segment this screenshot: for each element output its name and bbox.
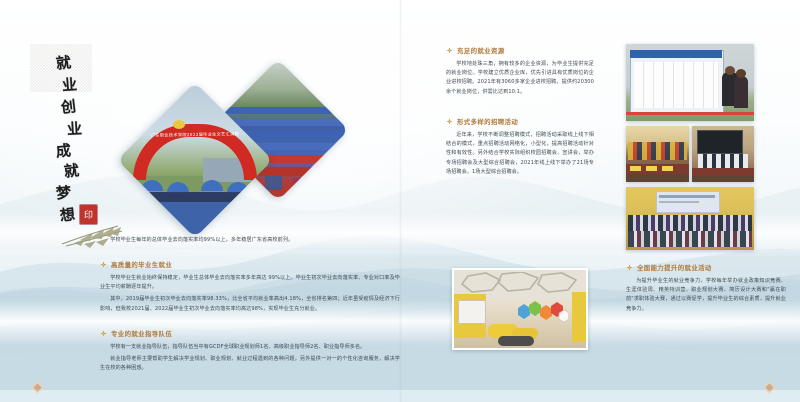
section-heading: 全面能力提升的就业活动: [626, 263, 786, 272]
section-heading: 专业的就业指导队伍: [100, 329, 400, 338]
section-intro: 学校毕业生每年的总体毕业去向落实率均99%以上，多年稳居广东省高校前列。: [100, 236, 400, 245]
photo-lecture-hall: [626, 126, 689, 182]
flower-bullet-icon: [446, 47, 453, 54]
photo-group-portrait: [626, 187, 754, 250]
paragraph: 学校有一支就业指导队伍，指导队伍当中有GCDF全球职业规划师1名、高级职业指导师…: [100, 343, 400, 352]
paragraph: 学校地处珠三角，拥有较多的企业资源，为毕业生提供充足的就业岗位。学校建立优质企业…: [446, 60, 594, 97]
flower-bullet-icon: [446, 118, 453, 125]
section-quality-employment: 高质量的毕业生就业 学校毕业生就业始终保持稳定，毕业生总体毕业去向落实率多年高达…: [100, 260, 400, 314]
section-employment-resources: 充足的就业资源 学校地处珠三角，拥有较多的企业资源，为毕业生提供充足的就业岗位。…: [446, 46, 594, 97]
flower-bullet-icon: [100, 261, 107, 268]
diamond-ornament-icon: [31, 381, 44, 394]
section-recruitment-activities: 形式多样的招聘活动 近年来，学校不断调整招聘模式，招聘活动采取线上线下相结合的模…: [446, 117, 594, 177]
title-char: 成: [55, 143, 71, 159]
paragraph: 学校毕业生就业始终保持稳定，毕业生总体毕业去向落实率多年高达 99%以上。毕业生…: [100, 274, 400, 292]
section-heading: 高质量的毕业生就业: [100, 260, 400, 269]
title-char: 业: [67, 122, 83, 138]
brochure-page: 就 业 创 业 成 就 梦 想 印: [0, 0, 800, 402]
section-heading: 充足的就业资源: [446, 46, 594, 55]
title-char: 业: [61, 77, 77, 93]
page-title: 就 业 创 业 成 就 梦 想 印: [30, 22, 148, 222]
title-char: 就: [63, 163, 80, 179]
section-heading-label: 专业的就业指导队伍: [111, 329, 172, 338]
section-heading-label: 形式多样的招聘活动: [457, 117, 518, 126]
wall-graphic-icon: [512, 296, 568, 326]
title-char: 创: [60, 99, 77, 116]
photo-recruitment-board: [626, 44, 754, 121]
photo-career-center-room: [452, 268, 588, 350]
section-heading-label: 全面能力提升的就业活动: [637, 263, 712, 272]
title-char: 就: [55, 55, 72, 71]
section-ability-activities: 全面能力提升的就业活动 为提升毕业生的就业竞争力，学校每年举办就业政策知识竞赛、…: [626, 263, 786, 314]
title-char: 梦: [55, 185, 71, 201]
section-heading: 形式多样的招聘活动: [446, 117, 594, 126]
intro-paragraph: 学校毕业生每年的总体毕业去向落实率均99%以上，多年稳居广东省高校前列。: [100, 236, 400, 245]
paragraph: 其中，2019届毕业生初次毕业去向落实率98.33%，比全省平均就业率高出4.1…: [100, 295, 400, 313]
paragraph: 为提升毕业生的就业竞争力，学校每年举办就业政策知识竞赛、生涯体验周、精英特训营、…: [626, 277, 786, 314]
section-guidance-team: 专业的就业指导队伍 学校有一支就业指导队伍，指导队伍当中有GCDF全球职业规划师…: [100, 329, 400, 374]
photo-classroom-interview: [692, 126, 754, 182]
paragraph: 近年来，学校不断调整招聘模式，招聘活动采取线上线下相结合的模式，重点招聘活动网络…: [446, 131, 594, 177]
paragraph: 就业指导老师主要帮助学生解决学业规划、职业规划、就业过程遇到的各种问题，另外提供…: [100, 355, 400, 373]
section-heading-label: 高质量的毕业生就业: [111, 260, 172, 269]
section-heading-label: 充足的就业资源: [457, 46, 505, 55]
flower-bullet-icon: [100, 330, 107, 337]
diamond-ornament-icon: [763, 381, 776, 394]
flower-bullet-icon: [626, 264, 633, 271]
